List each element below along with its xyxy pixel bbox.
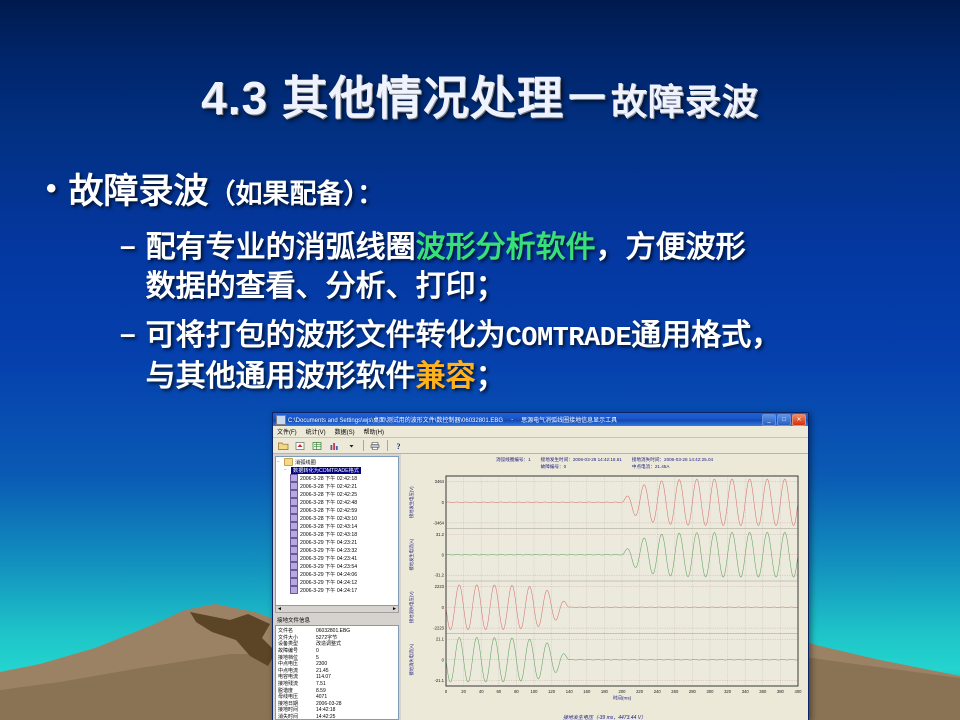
export-icon[interactable] bbox=[293, 438, 308, 453]
bullet-level2-item-2: – 可将打包的波形文件转化为COMTRADE通用格式，与其他通用波形软件兼容； bbox=[120, 316, 946, 396]
tree-item[interactable]: 2006-3-29 下午 04:23:21 bbox=[290, 538, 397, 546]
file-info-key: 消失时间 bbox=[278, 714, 316, 720]
waveform-file-icon bbox=[290, 490, 298, 498]
bullet-list: • 故障录波（如果配备）： – 配有专业的消弧线圈波形分析软件，方便波形数据的查… bbox=[46, 170, 946, 406]
bullet-level2-item-1: – 配有专业的消弧线圈波形分析软件，方便波形数据的查看、分析、打印； bbox=[120, 228, 946, 306]
left-panel: − 消弧线圈 − 数据转化为COMTRADE格式 2006-3-28 下午 02… bbox=[273, 454, 401, 720]
file-info-row: 中点电压2300 bbox=[278, 661, 396, 668]
tree-item-label: 2006-3-29 下午 04:24:17 bbox=[300, 587, 357, 594]
b2-1-highlight: 波形分析软件 bbox=[416, 231, 596, 264]
b2-1-b: ，方便波形 bbox=[596, 231, 746, 264]
file-info-value: 改造调整式 bbox=[316, 641, 396, 648]
x-axis-tick-label: 260 bbox=[671, 689, 679, 694]
file-info-value: 14:42:18 bbox=[316, 707, 396, 714]
file-info-panel: 文件名06032801.EBG文件大小5272字节设备类型改造调整式故障编号0接… bbox=[275, 625, 399, 720]
x-axis-tick-label: 80 bbox=[514, 689, 519, 694]
y-axis-tick-label: -21.1 bbox=[434, 678, 444, 683]
file-info-value: 7.51 bbox=[316, 681, 396, 688]
tree-item-label: 2006-3-29 下午 04:23:21 bbox=[300, 539, 357, 546]
b2-1-c: 数据的查看、分析、打印； bbox=[146, 270, 506, 303]
x-axis-tick-label: 360 bbox=[759, 689, 767, 694]
scroll-left-icon[interactable]: ◄ bbox=[277, 606, 282, 612]
file-info-value: 114.07 bbox=[316, 674, 396, 681]
toolbar-divider bbox=[363, 440, 364, 451]
file-info-row: 消失时间14:42:25 bbox=[278, 714, 396, 720]
bullet-dot-icon: • bbox=[46, 170, 57, 208]
waveform-tree[interactable]: − 消弧线圈 − 数据转化为COMTRADE格式 2006-3-28 下午 02… bbox=[275, 456, 399, 606]
tree-item-label: 2006-3-28 下午 02:42:25 bbox=[300, 491, 357, 498]
chart-coil-no: 消弧线圈编号：1 bbox=[496, 457, 531, 463]
minimize-button[interactable]: _ bbox=[762, 414, 776, 426]
file-info-key: 接地时间 bbox=[278, 707, 316, 714]
file-info-row: 接地时间14:42:18 bbox=[278, 707, 396, 714]
tree-item[interactable]: 2006-3-29 下午 04:24:17 bbox=[290, 586, 397, 594]
maximize-button[interactable]: □ bbox=[777, 414, 791, 426]
waveform-file-icon bbox=[290, 522, 298, 530]
folder-icon bbox=[284, 458, 293, 466]
menu-item-help[interactable]: 帮助(H) bbox=[364, 427, 384, 436]
x-axis-tick-label: 200 bbox=[619, 689, 627, 694]
menu-item-data[interactable]: 数据(S) bbox=[335, 427, 355, 436]
b2-2-b: 通用格式， bbox=[631, 319, 781, 352]
x-axis-tick-label: 280 bbox=[689, 689, 697, 694]
title-tail: 故障录波 bbox=[611, 81, 759, 122]
bullet2-2-text: 可将打包的波形文件转化为COMTRADE通用格式，与其他通用波形软件兼容； bbox=[146, 316, 782, 396]
x-axis-tick-label: 160 bbox=[583, 689, 591, 694]
tree-selected-label: 数据转化为COMTRADE格式 bbox=[291, 467, 361, 474]
file-info-row: 接地残流7.51 bbox=[278, 681, 396, 688]
tree-item-list[interactable]: 2006-3-28 下午 02:42:182006-3-28 下午 02:42:… bbox=[277, 474, 397, 594]
x-axis-tick-label: 300 bbox=[707, 689, 715, 694]
tree-item-label: 2006-3-29 下午 04:24:12 bbox=[300, 579, 357, 586]
chart-status-line: 接地发生电压（-39 ms，4473.44 V） bbox=[401, 714, 808, 720]
x-axis-tick-label: 120 bbox=[548, 689, 556, 694]
tree-item-label: 2006-3-28 下午 02:43:14 bbox=[300, 523, 357, 530]
embedded-app-window[interactable]: C:\Documents and Settings\wjs\桌面\测试用的波形文… bbox=[272, 412, 809, 720]
tree-horizontal-scrollbar[interactable]: ◄ ► bbox=[275, 606, 399, 613]
waveform-file-icon bbox=[290, 506, 298, 514]
b2-1-a: 配有专业的消弧线圈 bbox=[146, 231, 416, 264]
print-icon[interactable] bbox=[368, 438, 383, 453]
chart-header: 消弧线圈编号：1 接地发生时间：2006-03-28 14:42:18.61 故… bbox=[402, 455, 807, 470]
titlebar-app-name: 思源电气消弧线圈接地信息显示工具 bbox=[521, 415, 762, 424]
chart-start-time: 接地发生时间：2006-03-28 14:42:18.61 bbox=[541, 457, 622, 463]
file-info-value: 21.45 bbox=[316, 668, 396, 675]
tree-selected-node[interactable]: − 数据转化为COMTRADE格式 bbox=[284, 466, 397, 474]
tree-root-label: 消弧线圈 bbox=[295, 459, 316, 466]
tree-item[interactable]: 2006-3-28 下午 02:42:48 bbox=[290, 498, 397, 506]
chart-plot-wrapper[interactable]: 0204060801001201401601802002202402602803… bbox=[402, 472, 807, 713]
file-info-value: 2006-03-28 bbox=[316, 701, 396, 708]
titlebar-separator: - bbox=[511, 417, 513, 423]
tree-item-label: 2006-3-28 下午 02:42:48 bbox=[300, 499, 357, 506]
tree-item[interactable]: 2006-3-29 下午 04:23:54 bbox=[290, 562, 397, 570]
waveform-file-icon bbox=[290, 482, 298, 490]
open-folder-icon[interactable] bbox=[276, 438, 291, 453]
scroll-right-icon[interactable]: ► bbox=[392, 606, 397, 612]
y-axis-tick-label: 0 bbox=[442, 552, 445, 557]
file-info-key: 接地残流 bbox=[278, 681, 316, 688]
bullet1-bold: 故障录波 bbox=[69, 172, 209, 211]
x-axis-tick-label: 240 bbox=[654, 689, 662, 694]
file-info-row: 母线电压4071 bbox=[278, 694, 396, 701]
tree-item-label: 2006-3-29 下午 04:24:06 bbox=[300, 571, 357, 578]
y-axis-tick-label: 2223 bbox=[435, 584, 445, 589]
x-axis-tick-label: 140 bbox=[566, 689, 574, 694]
x-axis-tick-label: 320 bbox=[724, 689, 732, 694]
y-axis-label: 接地消失电流(A) bbox=[408, 643, 415, 675]
y-axis-tick-label: -2223 bbox=[433, 626, 444, 631]
bullet-level1: • 故障录波（如果配备）： bbox=[46, 170, 946, 214]
tree-item-label: 2006-3-28 下午 02:43:18 bbox=[300, 531, 357, 538]
svg-text:?: ? bbox=[397, 442, 401, 451]
slide-background: 4.3 其他情况处理－故障录波 • 故障录波（如果配备）： – 配有专业的消弧线… bbox=[0, 0, 960, 720]
file-info-value: 2300 bbox=[316, 661, 396, 668]
chart-mid-current: 中点电流：21.45A bbox=[632, 464, 713, 470]
tree-root-node[interactable]: − 消弧线圈 bbox=[277, 458, 397, 466]
x-axis-label: 时间(ms) bbox=[613, 695, 632, 702]
file-info-value: 4071 bbox=[316, 694, 396, 701]
x-axis-tick-label: 20 bbox=[461, 689, 466, 694]
close-button[interactable]: ✕ bbox=[792, 414, 806, 426]
excel-icon[interactable] bbox=[310, 438, 325, 453]
titlebar-path: C:\Documents and Settings\wjs\桌面\测试用的波形文… bbox=[288, 415, 503, 424]
bullet1-sub: （如果配备）： bbox=[209, 179, 385, 209]
tree-item-label: 2006-3-28 下午 02:42:21 bbox=[300, 483, 357, 490]
bullet-level1-text: 故障录波（如果配备）： bbox=[69, 170, 385, 214]
toolbar-divider-2 bbox=[387, 440, 388, 451]
app-body: − 消弧线圈 − 数据转化为COMTRADE格式 2006-3-28 下午 02… bbox=[273, 454, 808, 720]
dash-icon: – bbox=[120, 228, 136, 264]
tree-item[interactable]: 2006-3-28 下午 02:42:25 bbox=[290, 490, 397, 498]
tree-item-label: 2006-3-29 下午 04:23:32 bbox=[300, 547, 357, 554]
file-info-key: 中点电压 bbox=[278, 661, 316, 668]
tree-item-label: 2006-3-29 下午 04:23:54 bbox=[300, 563, 357, 570]
y-axis-tick-label: 21.1 bbox=[436, 637, 445, 642]
waveform-file-icon bbox=[290, 562, 298, 570]
tree-item-label: 2006-3-28 下午 02:43:10 bbox=[300, 515, 357, 522]
y-axis-tick-label: 0 bbox=[442, 605, 445, 610]
y-axis-tick-label: 0 bbox=[442, 657, 445, 662]
y-axis-tick-label: 31.2 bbox=[436, 532, 445, 537]
file-info-key: 故障编号 bbox=[278, 648, 316, 655]
b2-2-highlight: 兼容 bbox=[416, 360, 476, 393]
dropdown-arrow-icon[interactable] bbox=[344, 438, 359, 453]
page-title: 4.3 其他情况处理－故障录波 bbox=[0, 62, 960, 128]
tree-item-label: 2006-3-28 下午 02:42:18 bbox=[300, 475, 357, 482]
waveform-file-icon bbox=[290, 578, 298, 586]
file-info-key: 母线电压 bbox=[278, 694, 316, 701]
bullet2-1-text: 配有专业的消弧线圈波形分析软件，方便波形数据的查看、分析、打印； bbox=[146, 228, 746, 306]
app-window-icon bbox=[276, 415, 286, 425]
b2-2-d: ； bbox=[476, 360, 506, 393]
waveform-file-icon bbox=[290, 586, 298, 594]
file-info-value: 0 bbox=[316, 648, 396, 655]
y-axis-tick-label: 3464 bbox=[435, 479, 445, 484]
app-toolbar[interactable]: ? bbox=[273, 438, 808, 454]
file-info-row: 文件名06032801.EBG bbox=[278, 628, 396, 635]
help-icon[interactable]: ? bbox=[392, 438, 407, 453]
waveform-file-icon bbox=[290, 546, 298, 554]
tree-item[interactable]: 2006-3-29 下午 04:23:41 bbox=[290, 554, 397, 562]
x-axis-tick-label: 0 bbox=[445, 689, 448, 694]
x-axis-tick-label: 380 bbox=[777, 689, 785, 694]
tree-item-label: 2006-3-28 下午 02:42:59 bbox=[300, 507, 357, 514]
y-axis-label: 接地消失电压(V) bbox=[408, 591, 415, 623]
b2-2-mono: COMTRADE bbox=[506, 324, 632, 354]
tree-expander-icon[interactable]: − bbox=[277, 459, 282, 465]
file-info-value: 5 bbox=[316, 655, 396, 662]
waveform-file-icon bbox=[290, 538, 298, 546]
file-info-key: 文件名 bbox=[278, 628, 316, 635]
y-axis-tick-label: 0 bbox=[442, 500, 445, 505]
waveform-chart[interactable]: 0204060801001201401601802002202402602803… bbox=[402, 472, 802, 708]
waveform-file-icon bbox=[290, 474, 298, 482]
x-axis-tick-label: 180 bbox=[601, 689, 609, 694]
b2-2-c: 与其他通用波形软件 bbox=[146, 360, 416, 393]
app-menubar[interactable]: 文件(F) 统计(V) 数据(S) 帮助(H) bbox=[273, 426, 808, 438]
x-axis-tick-label: 40 bbox=[479, 689, 484, 694]
tree-item[interactable]: 2006-3-29 下午 04:24:06 bbox=[290, 570, 397, 578]
file-info-value: 8.59 bbox=[316, 688, 396, 695]
tree-item[interactable]: 2006-3-28 下午 02:42:21 bbox=[290, 482, 397, 490]
tree-expander-icon-2[interactable]: − bbox=[284, 467, 289, 473]
waveform-file-icon bbox=[290, 514, 298, 522]
chart-end-time: 接地消失时间：2006-03-28 14:42:25.04 bbox=[632, 457, 713, 463]
file-info-row: 故障编号0 bbox=[278, 648, 396, 655]
y-axis-tick-label: -3464 bbox=[433, 520, 444, 525]
x-axis-tick-label: 400 bbox=[795, 689, 803, 694]
waveform-file-icon bbox=[290, 570, 298, 578]
title-main: 4.3 其他情况处理－ bbox=[201, 72, 611, 124]
waveform-file-icon bbox=[290, 554, 298, 562]
menu-item-file[interactable]: 文件(F) bbox=[277, 427, 297, 436]
tree-item[interactable]: 2006-3-28 下午 02:42:59 bbox=[290, 506, 397, 514]
file-info-title: 接地文件信息 bbox=[277, 616, 399, 624]
file-info-value: 14:42:25 bbox=[316, 714, 396, 720]
app-titlebar[interactable]: C:\Documents and Settings\wjs\桌面\测试用的波形文… bbox=[273, 413, 808, 426]
tree-item-label: 2006-3-29 下午 04:23:41 bbox=[300, 555, 357, 562]
file-info-value: 06032801.EBG bbox=[316, 628, 396, 635]
y-axis-tick-label: -31.2 bbox=[434, 573, 444, 578]
waveform-file-icon bbox=[290, 498, 298, 506]
x-axis-tick-label: 60 bbox=[496, 689, 501, 694]
menu-item-statistics[interactable]: 统计(V) bbox=[306, 427, 326, 436]
waveform-file-icon bbox=[290, 530, 298, 538]
b2-2-a: 可将打包的波形文件转化为 bbox=[146, 319, 506, 352]
y-axis-label: 接地发生电流(A) bbox=[408, 538, 415, 570]
tree-item[interactable]: 2006-3-29 下午 04:23:32 bbox=[290, 546, 397, 554]
tree-item[interactable]: 2006-3-28 下午 02:42:18 bbox=[290, 474, 397, 482]
x-axis-tick-label: 340 bbox=[742, 689, 750, 694]
x-axis-tick-label: 100 bbox=[531, 689, 539, 694]
chart-panel: 消弧线圈编号：1 接地发生时间：2006-03-28 14:42:18.61 故… bbox=[401, 454, 808, 720]
x-axis-tick-label: 220 bbox=[636, 689, 644, 694]
tree-item[interactable]: 2006-3-28 下午 02:43:14 bbox=[290, 522, 397, 530]
tree-item[interactable]: 2006-3-28 下午 02:43:10 bbox=[290, 514, 397, 522]
chart-fault-no: 故障编号：0 bbox=[541, 464, 622, 470]
dash-icon-2: – bbox=[120, 316, 136, 352]
tree-item[interactable]: 2006-3-28 下午 02:43:18 bbox=[290, 530, 397, 538]
tree-item[interactable]: 2006-3-29 下午 04:24:12 bbox=[290, 578, 397, 586]
y-axis-label: 接地发生电压(V) bbox=[408, 486, 415, 518]
bar-chart-icon[interactable] bbox=[327, 438, 342, 453]
